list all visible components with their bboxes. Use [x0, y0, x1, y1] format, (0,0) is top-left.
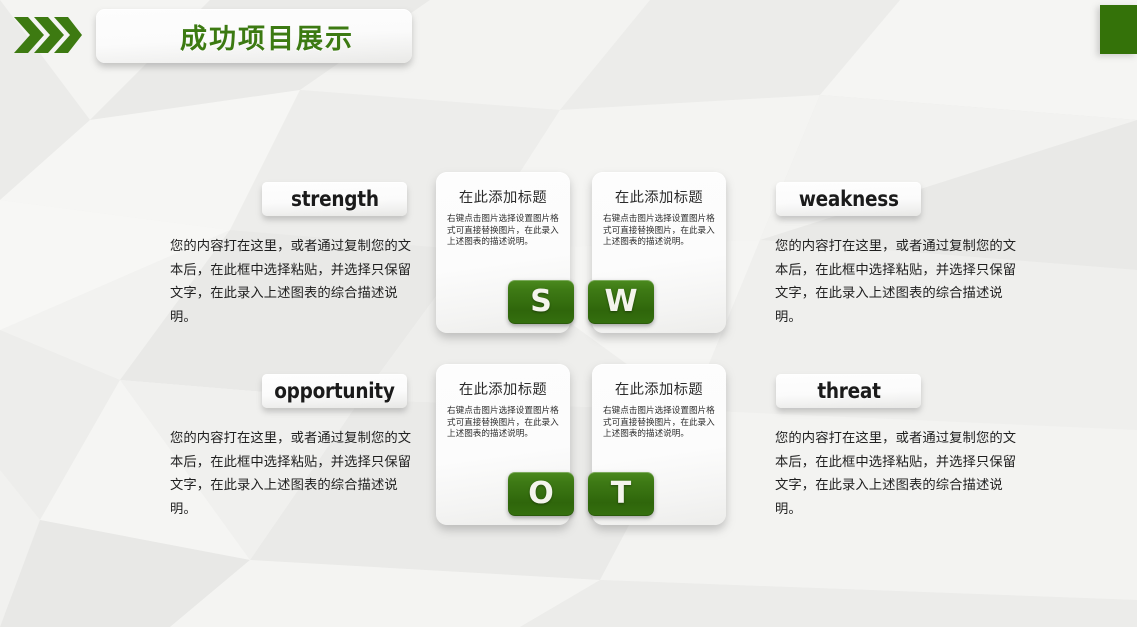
card-badge-t[interactable]: T — [588, 472, 654, 516]
threat-paragraph: 您的内容打在这里，或者通过复制您的文本后，在此框中选择粘贴，并选择只保留文字，在… — [775, 427, 1018, 521]
content-card-strength[interactable]: 在此添加标题 右键点击图片选择设置图片格式可直接替换图片，在此录入上述图表的描述… — [436, 172, 570, 333]
card-title: 在此添加标题 — [592, 378, 726, 399]
card-title: 在此添加标题 — [436, 378, 570, 399]
card-badge-s[interactable]: S — [508, 280, 574, 324]
card-title: 在此添加标题 — [592, 186, 726, 207]
opportunity-paragraph: 您的内容打在这里，或者通过复制您的文本后，在此框中选择粘贴，并选择只保留文字，在… — [170, 427, 413, 521]
card-body: 右键点击图片选择设置图片格式可直接替换图片，在此录入上述图表的描述说明。 — [603, 406, 718, 441]
content-card-opportunity[interactable]: 在此添加标题 右键点击图片选择设置图片格式可直接替换图片，在此录入上述图表的描述… — [436, 364, 570, 525]
card-body: 右键点击图片选择设置图片格式可直接替换图片，在此录入上述图表的描述说明。 — [447, 214, 562, 249]
content-card-threat[interactable]: 在此添加标题 右键点击图片选择设置图片格式可直接替换图片，在此录入上述图表的描述… — [592, 364, 726, 525]
swot-label-threat[interactable]: threat — [776, 374, 921, 408]
content-card-weakness[interactable]: 在此添加标题 右键点击图片选择设置图片格式可直接替换图片，在此录入上述图表的描述… — [592, 172, 726, 333]
card-badge-o[interactable]: O — [508, 472, 574, 516]
corner-accent-block — [1100, 5, 1137, 54]
swot-label-threat-text: threat — [817, 379, 880, 403]
page-title: 成功项目展示 — [154, 17, 354, 56]
strength-paragraph: 您的内容打在这里，或者通过复制您的文本后，在此框中选择粘贴，并选择只保留文字，在… — [170, 235, 413, 329]
slide-canvas: 成功项目展示 strength weakness opportunity thr… — [0, 0, 1137, 627]
card-body: 右键点击图片选择设置图片格式可直接替换图片，在此录入上述图表的描述说明。 — [603, 214, 718, 249]
swot-label-weakness-text: weakness — [799, 187, 899, 211]
swot-label-strength-text: strength — [291, 187, 379, 211]
card-body: 右键点击图片选择设置图片格式可直接替换图片，在此录入上述图表的描述说明。 — [447, 406, 562, 441]
swot-label-opportunity-text: opportunity — [274, 379, 394, 403]
card-title: 在此添加标题 — [436, 186, 570, 207]
swot-label-strength[interactable]: strength — [262, 182, 407, 216]
triple-chevron-right-icon — [12, 14, 82, 56]
card-badge-w-letter: W — [604, 287, 637, 317]
card-badge-t-letter: T — [611, 479, 631, 509]
swot-label-weakness[interactable]: weakness — [776, 182, 921, 216]
card-badge-s-letter: S — [530, 287, 552, 317]
page-title-plate: 成功项目展示 — [96, 9, 412, 63]
weakness-paragraph: 您的内容打在这里，或者通过复制您的文本后，在此框中选择粘贴，并选择只保留文字，在… — [775, 235, 1018, 329]
swot-label-opportunity[interactable]: opportunity — [262, 374, 407, 408]
card-badge-w[interactable]: W — [588, 280, 654, 324]
card-badge-o-letter: O — [528, 479, 554, 509]
